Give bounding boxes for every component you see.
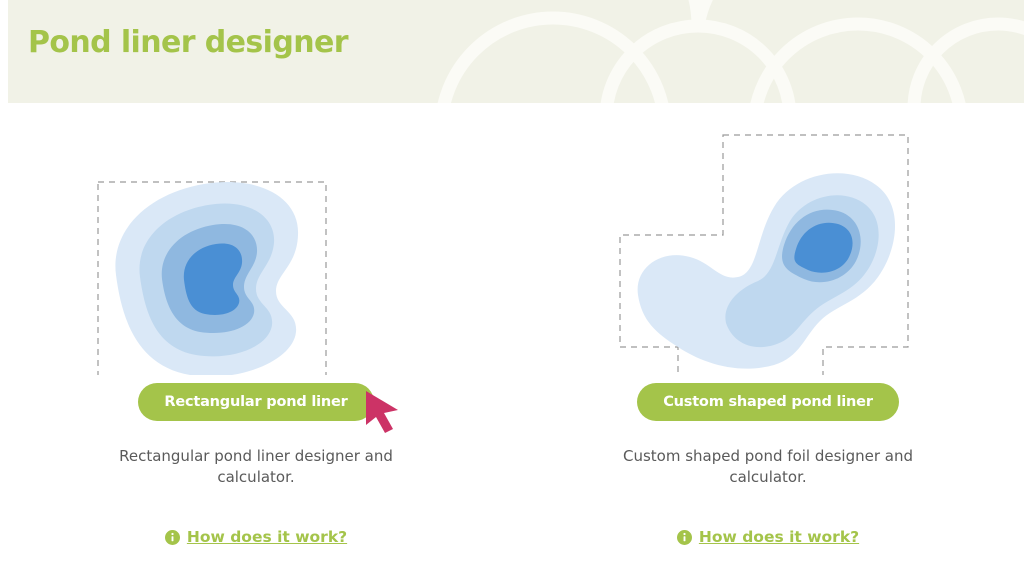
rectangular-pond-liner-button[interactable]: Rectangular pond liner bbox=[138, 383, 373, 421]
custom-pond-shape bbox=[598, 125, 938, 375]
how-does-it-work-custom[interactable]: How does it work? bbox=[677, 528, 859, 546]
custom-button-row: Custom shaped pond liner bbox=[637, 381, 899, 423]
how-does-it-work-link-label: How does it work? bbox=[699, 528, 859, 546]
option-card-custom: Custom shaped pond liner Custom shaped p… bbox=[512, 103, 1024, 585]
custom-pond-illustration bbox=[598, 125, 938, 375]
info-circle-icon bbox=[165, 530, 180, 545]
rectangular-pond-illustration bbox=[86, 125, 426, 375]
rectangular-description: Rectangular pond liner designer and calc… bbox=[106, 446, 406, 488]
rectangular-pond-shape bbox=[86, 125, 426, 375]
info-circle-icon bbox=[677, 530, 692, 545]
option-card-rectangular: Rectangular pond liner Rectangular pond … bbox=[0, 103, 512, 585]
page-title: Pond liner designer bbox=[28, 25, 348, 60]
how-does-it-work-rectangular[interactable]: How does it work? bbox=[165, 528, 347, 546]
page-header: Pond liner designer bbox=[8, 0, 1024, 103]
options-container: Rectangular pond liner Rectangular pond … bbox=[0, 103, 1024, 585]
rectangular-button-row: Rectangular pond liner bbox=[138, 381, 373, 423]
custom-description: Custom shaped pond foil designer and cal… bbox=[618, 446, 918, 488]
how-does-it-work-link-label: How does it work? bbox=[187, 528, 347, 546]
custom-shaped-pond-liner-button[interactable]: Custom shaped pond liner bbox=[637, 383, 899, 421]
